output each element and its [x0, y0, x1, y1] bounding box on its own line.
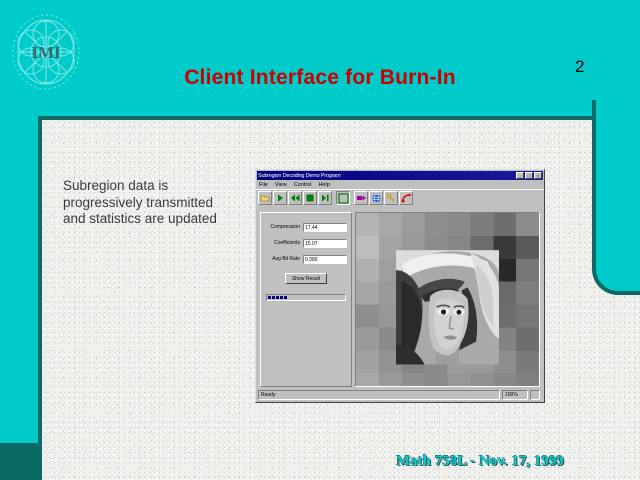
menu-item-control[interactable]: Control	[294, 182, 312, 188]
application-window[interactable]: Subregion Decoding Demo Program _ □ × Fi…	[255, 169, 545, 403]
progress-chunk	[272, 296, 275, 299]
caption-line-1: Subregion data is	[63, 178, 263, 195]
left-accent-band	[0, 116, 38, 443]
transmit-icon[interactable]	[354, 191, 368, 205]
minimize-button[interactable]: _	[516, 172, 524, 179]
menu-bar[interactable]: File View Control Help	[256, 180, 544, 189]
coefficients-label: Coefficients	[265, 240, 303, 246]
page-title: Client Interface for Burn-In	[0, 66, 640, 90]
stop-icon[interactable]	[303, 191, 317, 205]
open-file-icon[interactable]	[258, 191, 272, 205]
menu-item-file[interactable]: File	[259, 182, 268, 188]
globe-icon[interactable]	[369, 191, 383, 205]
progress-chunk	[284, 296, 287, 299]
window-title: Subregion Decoding Demo Program	[258, 173, 515, 179]
parameter-panel: Compression 17.44 Coefficients 15.07 Avg…	[260, 212, 352, 387]
slide-footer: Math 758L - Nov. 17, 1999	[396, 453, 564, 470]
progress-chunk	[268, 296, 271, 299]
progress-chunk	[276, 296, 279, 299]
coefficients-field[interactable]: 15.07	[303, 239, 347, 248]
resize-grip[interactable]	[530, 390, 540, 400]
client-area: Compression 17.44 Coefficients 15.07 Avg…	[258, 210, 542, 389]
left-accent-foot	[0, 443, 38, 480]
status-bar: Ready 100%	[258, 390, 542, 400]
bit-rate-label: Avg Bit Rate	[265, 256, 303, 262]
status-zoom: 100%	[502, 390, 528, 400]
right-accent-tab	[592, 100, 640, 295]
parameter-row-coefficients: Coefficients 15.07	[265, 238, 347, 248]
parameter-row-compression: Compression 17.44	[265, 222, 347, 232]
close-button[interactable]: ×	[534, 172, 542, 179]
slide-canvas: IMI Client Interface for Burn-In 2 Subre…	[0, 0, 640, 480]
play-icon[interactable]	[273, 191, 287, 205]
show-result-button[interactable]: Show Result	[285, 273, 327, 284]
window-titlebar[interactable]: Subregion Decoding Demo Program _ □ ×	[257, 171, 543, 180]
status-message: Ready	[258, 390, 500, 400]
bit-rate-field[interactable]: 0.380	[303, 255, 347, 264]
select-region-icon[interactable]	[336, 191, 350, 205]
compression-label: Compression	[265, 224, 303, 230]
caption-line-2: progressively transmitted	[63, 195, 263, 212]
toolbar[interactable]	[256, 189, 544, 206]
menu-item-help[interactable]: Help	[318, 182, 329, 188]
caption-line-3: and statistics are updated	[63, 211, 263, 228]
compression-field[interactable]: 17.44	[303, 223, 347, 232]
image-panel[interactable]	[355, 212, 540, 387]
connect-icon[interactable]	[399, 191, 413, 205]
transmission-progress	[266, 294, 346, 301]
maximize-button[interactable]: □	[525, 172, 533, 179]
rewind-icon[interactable]	[288, 191, 302, 205]
key-icon[interactable]	[384, 191, 398, 205]
step-forward-icon[interactable]	[318, 191, 332, 205]
lena-test-image[interactable]	[356, 213, 539, 387]
page-number: 2	[575, 57, 584, 77]
progress-chunk	[280, 296, 283, 299]
imi-logo-text: IMI	[31, 43, 61, 62]
parameter-row-bit-rate: Avg Bit Rate 0.380	[265, 254, 347, 264]
menu-item-view[interactable]: View	[275, 182, 287, 188]
slide-caption: Subregion data is progressively transmit…	[63, 178, 263, 228]
